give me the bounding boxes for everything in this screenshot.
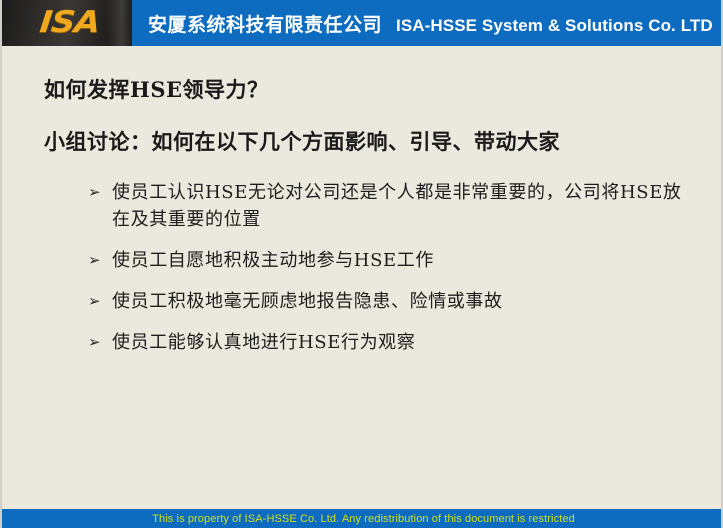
- company-name-english: ISA-HSSE System & Solutions Co. LTD: [396, 16, 713, 36]
- copyright-notice: This is property of ISA-HSSE Co. Ltd. An…: [152, 513, 575, 525]
- slide-header-bar: ISA 安厦系统科技有限责任公司 ISA-HSSE System & Solut…: [2, 0, 723, 46]
- slide-footer-bar: This is property of ISA-HSSE Co. Ltd. An…: [2, 509, 723, 528]
- arrow-bullet-icon: ➢: [88, 329, 112, 356]
- list-item-label: 使员工积极地毫无顾虑地报告隐患、险情或事故: [112, 288, 688, 315]
- bullet-list: ➢ 使员工认识HSE无论对公司还是个人都是非常重要的，公司将HSE放在及其重要的…: [88, 179, 688, 370]
- slide-body: 如何发挥HSE领导力？ 小组讨论：如何在以下几个方面影响、引导、带动大家 ➢ 使…: [2, 46, 721, 508]
- list-item: ➢ 使员工积极地毫无顾虑地报告隐患、险情或事故: [88, 288, 688, 315]
- company-name-chinese: 安厦系统科技有限责任公司: [148, 10, 382, 37]
- arrow-bullet-icon: ➢: [88, 247, 112, 274]
- list-item: ➢ 使员工认识HSE无论对公司还是个人都是非常重要的，公司将HSE放在及其重要的…: [88, 179, 688, 233]
- slide-heading-secondary: 小组讨论：如何在以下几个方面影响、引导、带动大家: [44, 126, 560, 156]
- list-item-label: 使员工自愿地积极主动地参与HSE工作: [112, 247, 688, 274]
- header-title-group: 安厦系统科技有限责任公司 ISA-HSSE System & Solutions…: [132, 10, 713, 37]
- company-logo: ISA: [2, 0, 132, 46]
- list-item: ➢ 使员工自愿地积极主动地参与HSE工作: [88, 247, 688, 274]
- list-item-label: 使员工能够认真地进行HSE行为观察: [112, 329, 688, 356]
- list-item-label: 使员工认识HSE无论对公司还是个人都是非常重要的，公司将HSE放在及其重要的位置: [112, 179, 688, 233]
- slide-canvas: ISA 安厦系统科技有限责任公司 ISA-HSSE System & Solut…: [0, 0, 723, 528]
- arrow-bullet-icon: ➢: [88, 179, 112, 206]
- slide-heading-primary: 如何发挥HSE领导力？: [44, 74, 269, 104]
- arrow-bullet-icon: ➢: [88, 288, 112, 315]
- list-item: ➢ 使员工能够认真地进行HSE行为观察: [88, 329, 688, 356]
- isa-logo-icon: ISA: [38, 8, 101, 38]
